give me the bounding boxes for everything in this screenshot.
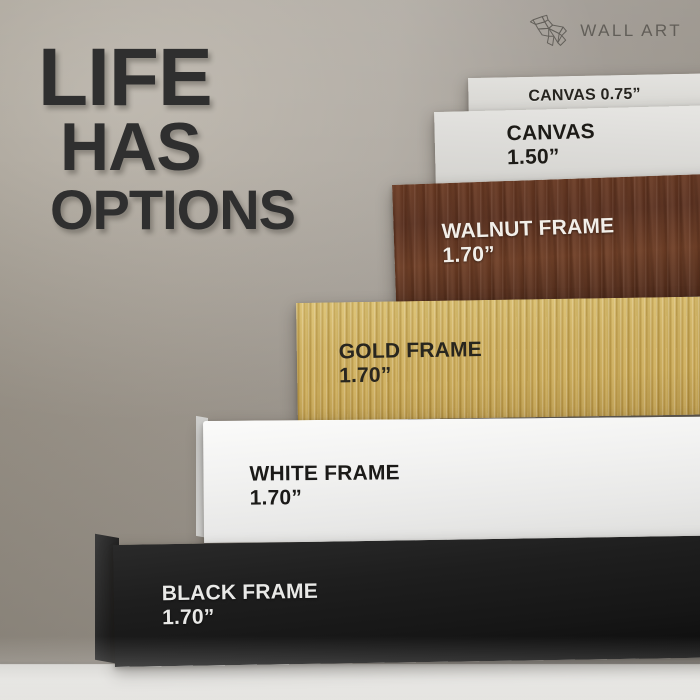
- product-slab-walnut-frame[interactable]: WALNUT FRAME 1.70”: [392, 173, 700, 306]
- canvas-075-label: CANVAS 0.75”: [528, 86, 641, 106]
- origami-goat-icon: [529, 14, 571, 48]
- headline-line-2: HAS: [38, 115, 295, 180]
- headline-line-3: OPTIONS: [38, 181, 295, 238]
- black-frame-label: BLACK FRAME 1.70”: [162, 580, 319, 629]
- headline-line-1: LIFE: [38, 40, 295, 115]
- studio-floor: [0, 664, 700, 700]
- product-options-poster: WALL ART LIFE HAS OPTIONS CANVAS 0.75” C…: [0, 0, 700, 700]
- white-frame-label: WHITE FRAME 1.70”: [249, 461, 400, 509]
- gold-frame-label: GOLD FRAME 1.70”: [339, 338, 483, 387]
- product-slab-black-frame[interactable]: BLACK FRAME 1.70”: [113, 535, 700, 667]
- product-slab-gold-frame[interactable]: GOLD FRAME 1.70”: [296, 296, 700, 421]
- brand-name: WALL ART: [580, 21, 682, 41]
- brand-logo[interactable]: WALL ART: [529, 14, 682, 48]
- canvas-150-label: CANVAS 1.50”: [506, 120, 595, 169]
- walnut-frame-label: WALNUT FRAME 1.70”: [441, 214, 615, 267]
- product-slab-white-frame[interactable]: WHITE FRAME 1.70”: [203, 416, 700, 543]
- page-title: LIFE HAS OPTIONS: [38, 40, 295, 238]
